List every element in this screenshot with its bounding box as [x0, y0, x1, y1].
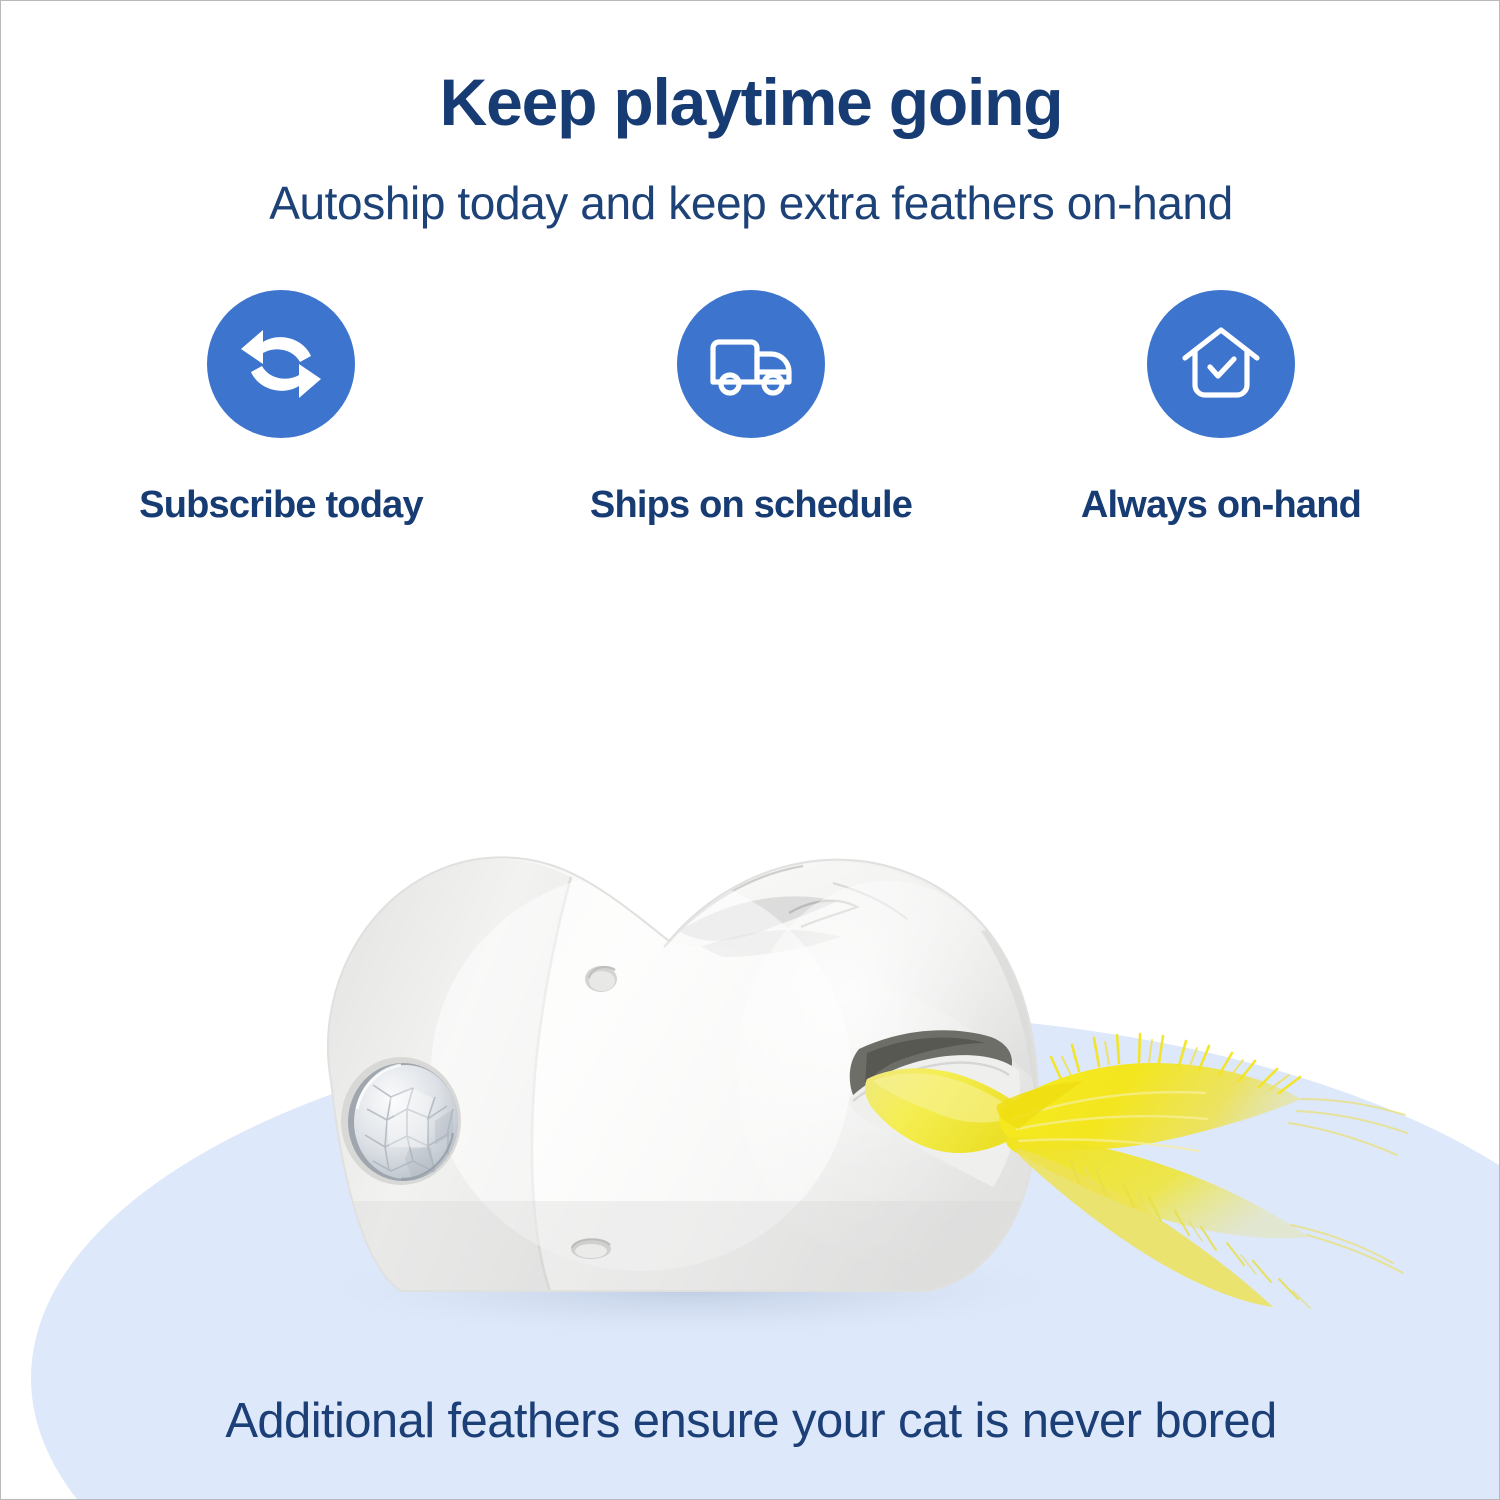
product-photo — [1, 601, 1500, 1361]
benefit-icon-badge — [207, 290, 355, 438]
headline-block: Keep playtime going Autoship today and k… — [1, 69, 1500, 226]
footer-caption: Additional feathers ensure your cat is n… — [1, 1393, 1500, 1449]
delivery-truck-icon — [703, 316, 799, 412]
benefit-item-subscribe: Subscribe today — [46, 290, 516, 527]
benefit-label: Always on-hand — [1081, 484, 1361, 527]
benefits-row: Subscribe today — [1, 290, 1500, 527]
house-check-icon — [1173, 316, 1269, 412]
benefit-icon-badge — [677, 290, 825, 438]
benefit-icon-badge — [1147, 290, 1295, 438]
page-title: Keep playtime going — [1, 69, 1500, 135]
benefit-item-onhand: Always on-hand — [986, 290, 1456, 527]
motion-sensor-lens — [341, 1057, 461, 1185]
benefit-label: Subscribe today — [139, 484, 423, 527]
promo-banner: Keep playtime going Autoship today and k… — [0, 0, 1500, 1500]
page-subtitle: Autoship today and keep extra feathers o… — [1, 135, 1500, 226]
refresh-cycle-icon — [233, 316, 329, 412]
benefit-label: Ships on schedule — [590, 484, 912, 527]
benefit-item-shipping: Ships on schedule — [516, 290, 986, 527]
